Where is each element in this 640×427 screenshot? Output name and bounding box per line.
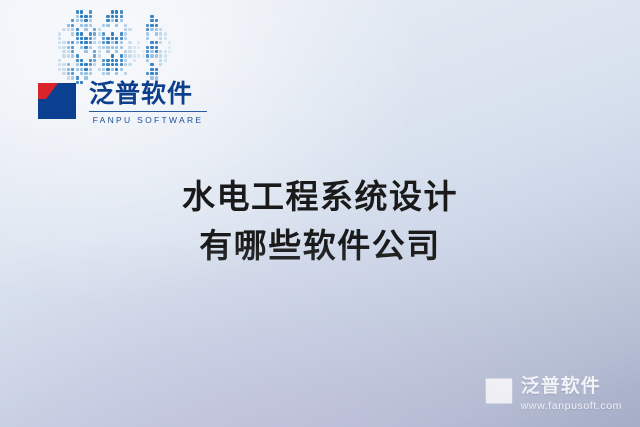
fanpu-logo-mark-icon [34, 78, 80, 124]
watermark-company: 泛普软件 [521, 376, 622, 397]
fanpu-watermark-mark-icon [483, 375, 515, 407]
headline-line-1: 水电工程系统设计 [0, 172, 640, 221]
watermark-url: www.fanpusoft.com [521, 400, 622, 413]
watermark: 泛普软件 www.fanpusoft.com [483, 375, 622, 413]
headline-line-2: 有哪些软件公司 [0, 221, 640, 270]
pixel-blocks-decoration [58, 6, 188, 86]
poster-canvas: 泛普软件 FANPU SOFTWARE 水电工程系统设计 有哪些软件公司 泛普软… [0, 0, 640, 427]
brand-name-cn: 泛普软件 [89, 80, 207, 108]
page-title: 水电工程系统设计 有哪些软件公司 [0, 172, 640, 270]
brand-name-en: FANPU SOFTWARE [89, 111, 207, 126]
brand-logo: 泛普软件 FANPU SOFTWARE [34, 78, 207, 126]
